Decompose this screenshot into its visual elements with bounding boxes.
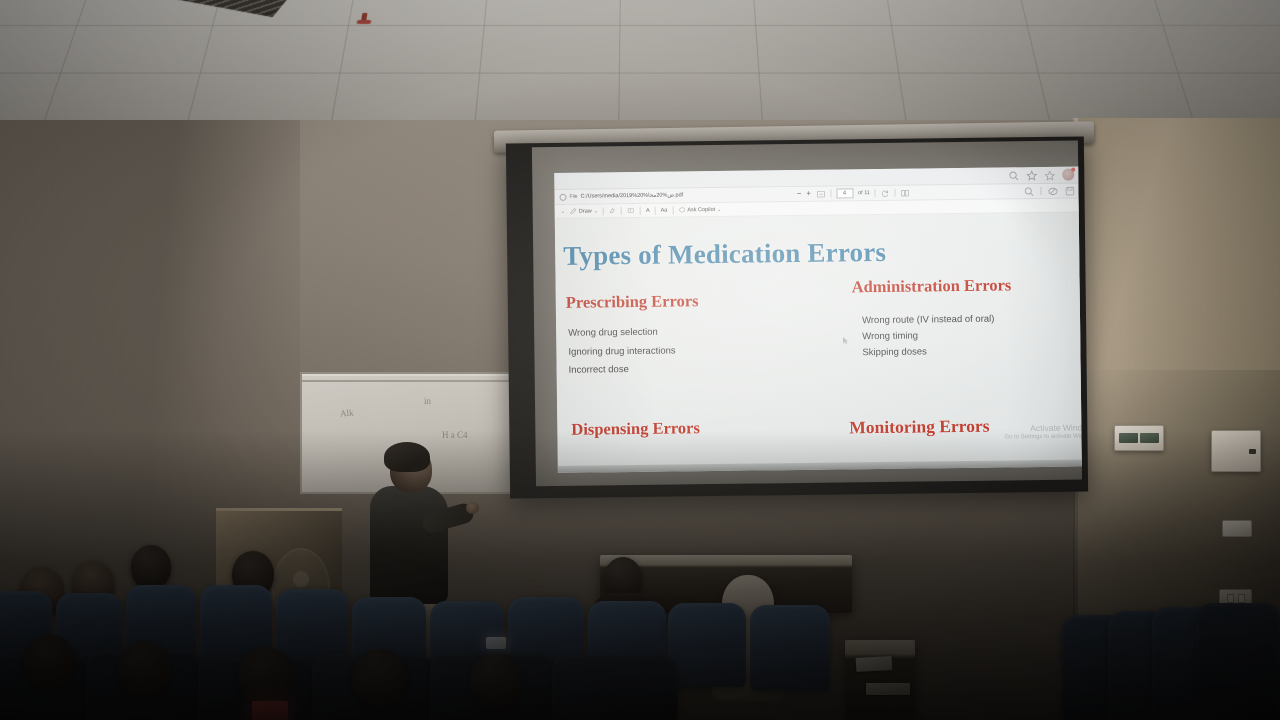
presenter-hair xyxy=(384,442,430,472)
read-aloud-label: A xyxy=(646,207,650,213)
phone-screen xyxy=(486,637,506,649)
ask-copilot-tool[interactable]: Ask Copilot ⌄ xyxy=(678,206,721,214)
heading-prescribing-errors: Prescribing Errors xyxy=(566,293,699,311)
slide-title: Types of Medication Errors xyxy=(563,236,1082,269)
audience-head xyxy=(238,647,294,705)
audience-head xyxy=(118,641,172,697)
divider xyxy=(830,190,831,198)
page-total-label: of 11 xyxy=(858,190,870,196)
page-layout-icon[interactable] xyxy=(901,188,910,197)
text-options-label: Aa xyxy=(661,207,668,213)
audience-head xyxy=(470,653,522,709)
fit-page-icon[interactable] xyxy=(816,189,825,198)
thermostat-display-left xyxy=(1119,433,1138,443)
windows-activation-watermark: Activate Windows Go to Settings to activ… xyxy=(1004,422,1082,441)
pen-icon xyxy=(570,208,577,215)
info-circle-icon[interactable] xyxy=(559,193,566,200)
read-aloud-tool[interactable]: A xyxy=(646,207,650,213)
collections-icon[interactable] xyxy=(1044,169,1055,180)
audience-seat xyxy=(750,605,830,691)
audience-seat xyxy=(552,655,678,720)
rotate-icon[interactable] xyxy=(881,188,890,197)
text-options-tool[interactable]: Aa xyxy=(661,207,668,213)
file-label: File xyxy=(569,194,577,200)
annotate-icon[interactable] xyxy=(1081,185,1082,196)
list-administration-errors: Wrong route (IV instead of oral) Wrong t… xyxy=(862,312,995,361)
fire-sprinkler-head xyxy=(356,13,372,25)
whiteboard-ink-1: Alk xyxy=(340,408,354,419)
watermark-line-2: Go to Settings to activate Windows xyxy=(1004,433,1082,442)
address-url: C:/Users/media/2019%ض%20محا%20.pdf xyxy=(581,192,684,199)
audience-head xyxy=(131,545,171,589)
list-item: Incorrect dose xyxy=(569,361,676,381)
eraser-icon[interactable] xyxy=(609,207,616,214)
audience-head xyxy=(24,635,76,689)
room: Alk in H a C4 xyxy=(0,0,1280,720)
thermostat-panel[interactable] xyxy=(1114,425,1164,451)
save-icon[interactable] xyxy=(1064,185,1075,196)
browser-window: ••• File C:/Users/media/2019%ض%20محا%20.… xyxy=(554,166,1082,219)
list-item: Skipping doses xyxy=(862,343,995,361)
list-item: Wrong drug selection xyxy=(568,323,675,343)
divider xyxy=(895,189,896,197)
copilot-icon xyxy=(678,206,685,213)
heading-monitoring-errors: Monitoring Errors xyxy=(849,418,989,437)
address-bar-left: File C:/Users/media/2019%ض%20محا%20.pdf xyxy=(554,192,683,201)
pdf-bottom-bar xyxy=(558,459,1082,473)
paper-sheet xyxy=(856,656,893,672)
chevron-down-icon: ⌄ xyxy=(594,208,598,214)
whiteboard-ink-3: H a C4 xyxy=(442,430,468,440)
paper-sheet xyxy=(866,683,910,695)
divider xyxy=(672,206,673,214)
divider xyxy=(621,207,622,215)
list-item: Wrong timing xyxy=(862,328,995,346)
whiteboard-ink-2: in xyxy=(424,396,431,406)
pdf-right-tools xyxy=(1023,185,1082,197)
lecture-hall-photo: Alk in H a C4 xyxy=(0,0,1280,720)
audience-seat xyxy=(668,603,746,687)
whiteboard-rail xyxy=(302,380,510,382)
draw-tool[interactable]: Draw ⌄ xyxy=(570,207,598,214)
draw-tool-label: Draw xyxy=(579,208,592,214)
phone-screen xyxy=(252,701,288,720)
zoom-in-button[interactable]: + xyxy=(806,190,811,198)
audience-head xyxy=(352,649,408,707)
divider xyxy=(603,207,604,215)
pdf-slide-page: Types of Medication Errors Prescribing E… xyxy=(555,212,1082,473)
divider xyxy=(875,189,876,197)
zoom-out-button[interactable]: − xyxy=(797,190,802,198)
projector-screen-surface: ••• File C:/Users/media/2019%ض%20محا%20.… xyxy=(532,141,1082,487)
watermark-line-1: Activate Windows xyxy=(1004,422,1082,434)
highlighter-icon[interactable] xyxy=(1047,185,1058,196)
toolbar-collapse-caret[interactable]: ⌄ xyxy=(561,208,565,214)
profile-avatar-icon[interactable] xyxy=(1062,169,1074,181)
highlight-box-icon[interactable] xyxy=(627,207,635,214)
control-panel[interactable] xyxy=(1211,430,1261,472)
find-in-document-icon[interactable] xyxy=(1023,186,1034,197)
more-options-icon[interactable]: ••• xyxy=(1081,170,1082,179)
divider xyxy=(655,206,656,214)
pdf-page-controls: − + 4 of 11 xyxy=(683,186,1023,200)
audience-seat xyxy=(1196,603,1280,720)
list-item: Wrong route (IV instead of oral) xyxy=(862,312,995,330)
current-page-input[interactable]: 4 xyxy=(836,188,853,198)
favorite-star-icon[interactable] xyxy=(1026,170,1037,181)
list-item: Ignoring drug interactions xyxy=(568,342,675,362)
chevron-down-icon: ⌄ xyxy=(717,206,721,212)
ask-copilot-label: Ask Copilot xyxy=(687,206,715,212)
projector-screen: ••• File C:/Users/media/2019%ض%20محا%20.… xyxy=(506,136,1088,498)
divider xyxy=(1040,187,1041,195)
mouse-pointer-icon xyxy=(842,336,849,345)
projected-image: ••• File C:/Users/media/2019%ض%20محا%20.… xyxy=(554,166,1082,473)
audience-seating xyxy=(0,505,1280,720)
search-icon[interactable] xyxy=(1008,170,1019,181)
heading-administration-errors: Administration Errors xyxy=(852,277,1012,295)
heading-dispensing-errors: Dispensing Errors xyxy=(571,420,700,438)
thermostat-display-right xyxy=(1140,433,1159,443)
list-prescribing-errors: Wrong drug selection Ignoring drug inter… xyxy=(568,323,676,380)
divider xyxy=(640,206,641,214)
side-desk xyxy=(845,640,915,720)
